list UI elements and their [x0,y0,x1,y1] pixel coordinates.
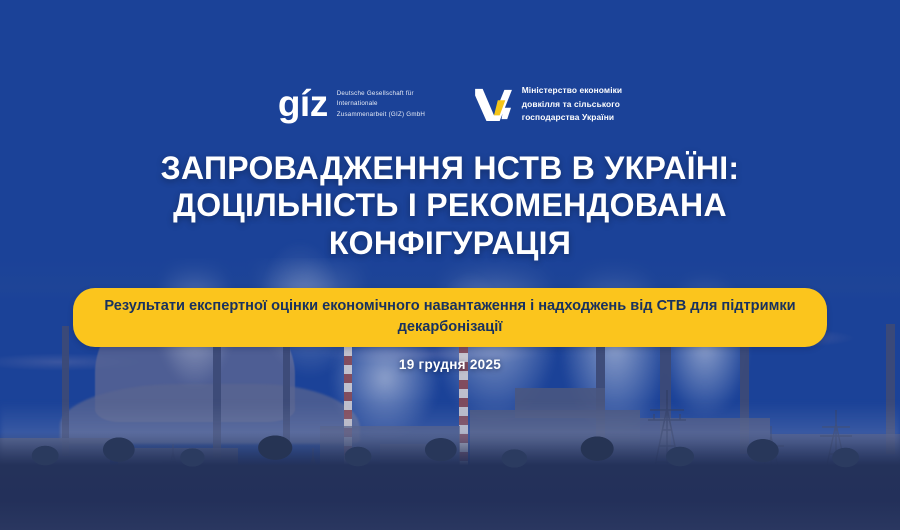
giz-wordmark: gíz [278,87,328,121]
presentation-date: 19 грудня 2025 [0,357,900,372]
subtitle-banner: Результати експертної оцінки економічног… [73,288,827,347]
logo-giz: gíz Deutsche Gesellschaft für Internatio… [278,87,429,121]
ministry-m-mark-icon [475,87,513,121]
page-title-line-2: ДОЦІЛЬНІСТЬ І РЕКОМЕНДОВАНА [70,187,830,224]
presentation-title-slide: gíz Deutsche Gesellschaft für Internatio… [0,0,900,530]
logo-ministry: Міністерство економіки довкілля та сільс… [475,84,622,125]
giz-tagline: Deutsche Gesellschaft für Internationale… [337,89,429,120]
logo-row: gíz Deutsche Gesellschaft für Internatio… [0,84,900,125]
page-title: ЗАПРОВАДЖЕННЯ НСТВ В УКРАЇНІ: ДОЦІЛЬНІСТ… [0,150,900,262]
page-title-line-1: ЗАПРОВАДЖЕННЯ НСТВ В УКРАЇНІ: [70,150,830,187]
page-title-line-3: КОНФІГУРАЦІЯ [70,225,830,262]
treeline-silhouette [0,432,900,530]
ministry-tagline: Міністерство економіки довкілля та сільс… [522,84,622,125]
